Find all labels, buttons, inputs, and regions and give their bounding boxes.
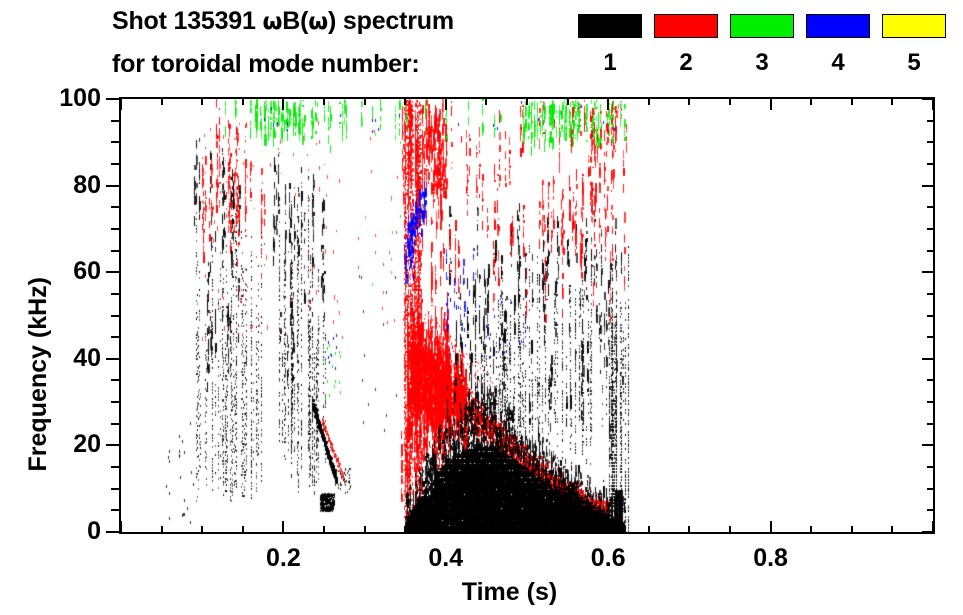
y-tick-minor: [111, 509, 119, 511]
x-tick-minor: [688, 526, 690, 534]
y-tick-major-80: [106, 185, 119, 187]
x-tick-top-minor: [729, 97, 731, 105]
y-tick-label-20: 20: [0, 432, 101, 457]
legend-label-mode-2: 2: [654, 48, 718, 78]
omega-symbol-2: ω: [308, 9, 328, 35]
legend-label-mode-1: 1: [578, 48, 642, 78]
y-tick-right-major-40: [922, 358, 935, 360]
x-tick-top-major-0.2: [282, 97, 284, 110]
y-tick-right-minor: [927, 315, 935, 317]
legend-item-mode-4: 4: [806, 10, 872, 86]
y-axis-label-wrap: Frequency (kHz): [30, 97, 60, 534]
y-tick-minor: [111, 163, 119, 165]
y-tick-right-minor: [927, 401, 935, 403]
x-tick-minor: [810, 526, 812, 534]
y-tick-minor: [111, 379, 119, 381]
legend-swatch-mode-1: [578, 14, 642, 38]
x-tick-top-minor: [851, 97, 853, 105]
y-tick-right-major-20: [922, 444, 935, 446]
x-tick-top-minor: [688, 97, 690, 105]
x-tick-major-0.6: [607, 521, 609, 534]
x-tick-minor: [851, 526, 853, 534]
x-tick-top-minor: [323, 97, 325, 105]
y-tick-major-20: [106, 444, 119, 446]
y-tick-minor: [111, 488, 119, 490]
y-tick-minor: [111, 206, 119, 208]
y-tick-minor: [111, 293, 119, 295]
x-tick-major-0: [120, 521, 122, 534]
x-tick-top-minor: [201, 97, 203, 105]
x-tick-top-major-0.6: [607, 97, 609, 110]
x-tick-label-0.4: 0.4: [406, 546, 486, 571]
x-tick-major-1: [932, 521, 934, 534]
y-tick-minor: [111, 466, 119, 468]
x-tick-minor: [364, 526, 366, 534]
legend-item-mode-5: 5: [882, 10, 948, 86]
legend-item-mode-3: 3: [730, 10, 796, 86]
y-tick-right-minor: [927, 141, 935, 143]
legend: 12345: [578, 10, 960, 86]
y-tick-label-100: 100: [0, 86, 101, 111]
title-prefix: Shot 135391: [112, 7, 262, 35]
legend-item-mode-1: 1: [578, 10, 644, 86]
x-tick-minor: [161, 526, 163, 534]
y-tick-minor: [111, 228, 119, 230]
x-tick-minor: [242, 526, 244, 534]
y-tick-major-60: [106, 271, 119, 273]
y-tick-right-minor: [927, 163, 935, 165]
x-tick-top-major-0.4: [445, 97, 447, 110]
y-tick-right-minor: [927, 423, 935, 425]
legend-label-mode-4: 4: [806, 48, 870, 78]
legend-swatch-mode-2: [654, 14, 718, 38]
y-tick-major-40: [106, 358, 119, 360]
plot-frame: [119, 97, 935, 534]
legend-label-mode-5: 5: [882, 48, 946, 78]
y-tick-major-0: [106, 531, 119, 533]
y-tick-minor: [111, 120, 119, 122]
y-tick-minor: [111, 336, 119, 338]
x-axis-label: Time (s): [462, 578, 557, 607]
x-tick-minor: [201, 526, 203, 534]
legend-swatch-mode-4: [806, 14, 870, 38]
legend-swatch-mode-3: [730, 14, 794, 38]
y-tick-right-minor: [927, 509, 935, 511]
spectrogram-canvas: [121, 99, 933, 532]
y-tick-major-100: [106, 98, 119, 100]
x-tick-top-major-1: [932, 97, 934, 110]
x-tick-top-major-0.8: [770, 97, 772, 110]
x-tick-top-minor: [242, 97, 244, 105]
y-tick-minor: [111, 401, 119, 403]
y-tick-right-minor: [927, 336, 935, 338]
y-tick-label-80: 80: [0, 173, 101, 198]
x-tick-minor: [526, 526, 528, 534]
legend-item-mode-2: 2: [654, 10, 720, 86]
x-tick-minor: [323, 526, 325, 534]
x-tick-minor: [891, 526, 893, 534]
x-tick-top-minor: [364, 97, 366, 105]
x-tick-minor: [648, 526, 650, 534]
y-tick-minor: [111, 141, 119, 143]
x-tick-minor: [567, 526, 569, 534]
x-tick-minor: [485, 526, 487, 534]
y-tick-right-minor: [927, 228, 935, 230]
y-tick-right-minor: [927, 250, 935, 252]
y-tick-right-minor: [927, 488, 935, 490]
legend-label-mode-3: 3: [730, 48, 794, 78]
y-tick-right-minor: [927, 466, 935, 468]
x-tick-top-minor: [404, 97, 406, 105]
x-tick-major-0.4: [445, 521, 447, 534]
y-tick-label-40: 40: [0, 346, 101, 371]
x-tick-top-minor: [648, 97, 650, 105]
y-tick-right-major-80: [922, 185, 935, 187]
x-tick-major-0.8: [770, 521, 772, 534]
x-tick-top-major-0: [120, 97, 122, 110]
y-tick-minor: [111, 315, 119, 317]
title-suffix: ) spectrum: [328, 7, 454, 35]
figure-title-line-1: Shot 135391 ωB(ω) spectrum: [112, 7, 454, 36]
y-tick-minor: [111, 250, 119, 252]
x-tick-top-minor: [810, 97, 812, 105]
y-tick-label-60: 60: [0, 259, 101, 284]
title-mid: B(: [282, 7, 308, 35]
x-tick-top-minor: [526, 97, 528, 105]
y-tick-right-minor: [927, 379, 935, 381]
x-tick-top-minor: [567, 97, 569, 105]
y-tick-right-minor: [927, 293, 935, 295]
y-tick-right-minor: [927, 120, 935, 122]
x-tick-top-minor: [891, 97, 893, 105]
x-tick-minor: [729, 526, 731, 534]
y-tick-right-major-60: [922, 271, 935, 273]
x-tick-label-0.2: 0.2: [243, 546, 323, 571]
x-tick-minor: [404, 526, 406, 534]
y-tick-right-minor: [927, 206, 935, 208]
omega-symbol-1: ω: [262, 9, 282, 35]
x-tick-label-0.6: 0.6: [568, 546, 648, 571]
spectrogram-figure: Shot 135391 ωB(ω) spectrum for toroidal …: [0, 0, 963, 615]
y-tick-label-0: 0: [0, 519, 101, 544]
y-tick-minor: [111, 423, 119, 425]
x-axis-label-wrap: Time (s): [0, 578, 963, 607]
x-tick-top-minor: [161, 97, 163, 105]
legend-swatch-mode-5: [882, 14, 946, 38]
figure-title-line-2: for toroidal mode number:: [112, 50, 420, 79]
x-tick-top-minor: [485, 97, 487, 105]
x-tick-label-0.8: 0.8: [731, 546, 811, 571]
x-tick-major-0.2: [282, 521, 284, 534]
